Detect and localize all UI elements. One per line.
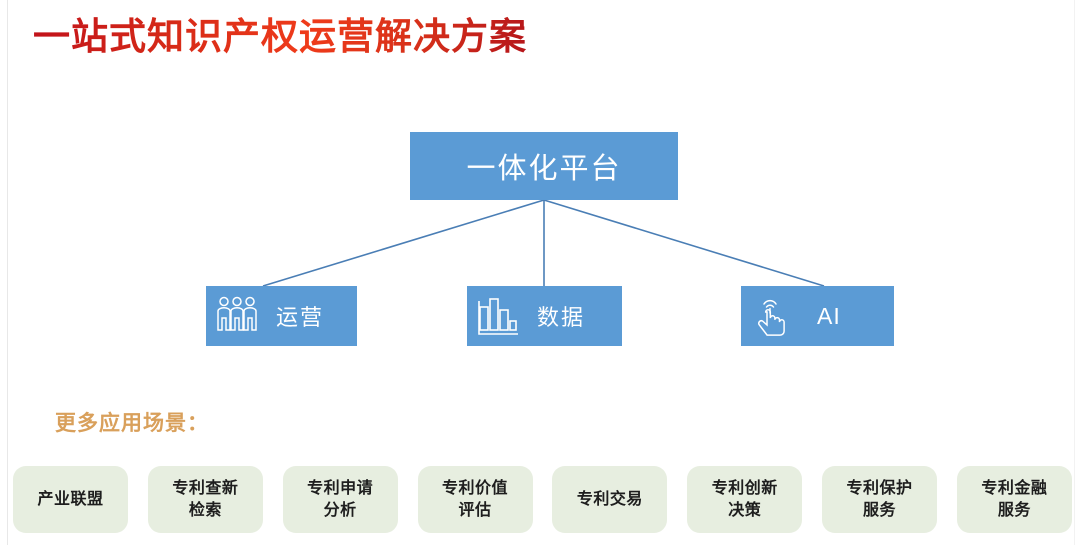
scenario-chip-label: 专利交易: [577, 489, 643, 511]
scenario-chip-label: 专利申请 分析: [307, 478, 373, 522]
scenario-chip[interactable]: 专利交易: [552, 466, 667, 533]
slide-canvas: 一站式知识产权运营解决方案 一体化平台 运营 数据: [0, 0, 1080, 545]
scenario-chip-row: 产业联盟 专利查新 检索 专利申请 分析 专利价值 评估 专利交易 专利创新 决…: [13, 466, 1072, 533]
touch-hand-icon: [749, 293, 795, 339]
bar-chart-icon: [475, 293, 521, 339]
scenario-chip-label: 专利保护 服务: [847, 478, 913, 522]
scenario-chip[interactable]: 专利创新 决策: [687, 466, 802, 533]
page-right-edge: [1074, 0, 1075, 545]
scenario-chip[interactable]: 专利申请 分析: [283, 466, 398, 533]
node-ai[interactable]: AI: [741, 286, 894, 346]
diagram-connectors: [0, 0, 1080, 545]
node-data[interactable]: 数据: [467, 286, 622, 346]
people-group-icon: [214, 293, 260, 339]
node-operations[interactable]: 运营: [206, 286, 357, 346]
scenario-chip[interactable]: 专利金融 服务: [957, 466, 1072, 533]
node-operations-label: 运营: [276, 300, 324, 332]
scenario-chip[interactable]: 专利查新 检索: [148, 466, 263, 533]
page-title: 一站式知识产权运营解决方案: [33, 14, 527, 60]
scenario-chip[interactable]: 专利价值 评估: [418, 466, 533, 533]
node-ai-label: AI: [817, 303, 841, 330]
page-left-edge: [7, 0, 8, 545]
scenario-chip[interactable]: 产业联盟: [13, 466, 128, 533]
platform-node-label: 一体化平台: [466, 145, 621, 187]
platform-node[interactable]: 一体化平台: [410, 132, 678, 200]
scenario-chip-label: 专利价值 评估: [442, 478, 508, 522]
scenario-chip-label: 专利查新 检索: [172, 478, 238, 522]
scenario-chip-label: 专利创新 决策: [712, 478, 778, 522]
scenario-chip-label: 专利金融 服务: [981, 478, 1047, 522]
node-data-label: 数据: [537, 300, 585, 332]
scenario-chip[interactable]: 专利保护 服务: [822, 466, 937, 533]
scenario-chip-label: 产业联盟: [37, 489, 103, 511]
more-scenarios-caption: 更多应用场景：: [55, 407, 209, 437]
